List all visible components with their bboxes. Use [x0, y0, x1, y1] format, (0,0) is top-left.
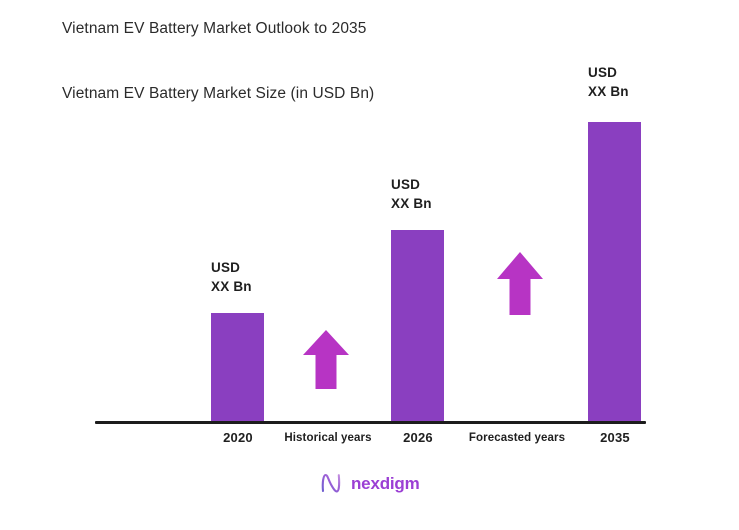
bar-label-2020-line2: XX Bn: [211, 277, 252, 296]
x-axis-line: [95, 421, 646, 424]
growth-arrow-forecast: [497, 252, 543, 315]
bar-label-2026-line2: XX Bn: [391, 194, 432, 213]
nexdigm-n-mark-icon: [318, 470, 344, 496]
bar-2026: [391, 230, 444, 423]
axis-label-2020: 2020: [208, 430, 268, 445]
bar-label-2035-line1: USD: [588, 63, 629, 82]
bar-label-2035: USD XX Bn: [588, 63, 629, 101]
growth-arrow-historical: [303, 330, 349, 389]
chart-container: Vietnam EV Battery Market Outlook to 203…: [0, 0, 739, 530]
bar-label-2035-line2: XX Bn: [588, 82, 629, 101]
axis-label-historical-years: Historical years: [268, 432, 388, 444]
axis-label-2035: 2035: [585, 430, 645, 445]
plot-area: USD XX Bn USD XX Bn USD XX Bn: [0, 0, 739, 530]
nexdigm-wordmark: nexdigm: [351, 475, 420, 492]
bar-label-2020: USD XX Bn: [211, 258, 252, 296]
bar-2035: [588, 122, 641, 423]
axis-label-forecasted-years: Forecasted years: [452, 432, 582, 444]
bar-label-2020-line1: USD: [211, 258, 252, 277]
bar-2020: [211, 313, 264, 423]
axis-label-2026: 2026: [388, 430, 448, 445]
bar-label-2026-line1: USD: [391, 175, 432, 194]
nexdigm-logo: nexdigm: [318, 470, 420, 496]
bar-label-2026: USD XX Bn: [391, 175, 432, 213]
